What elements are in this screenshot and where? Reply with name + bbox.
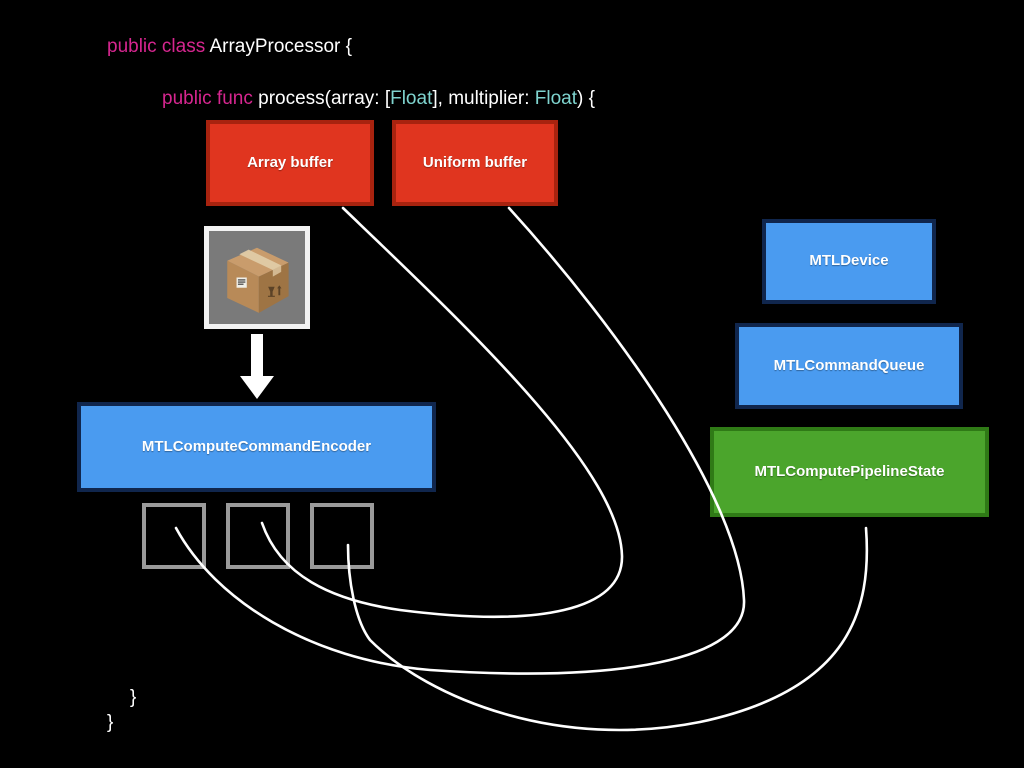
node-uniform-buffer-label: Uniform buffer [423,155,527,172]
node-array-buffer[interactable]: Array buffer [206,120,374,206]
encoder-slot-1[interactable] [142,503,206,569]
node-mtl-command-queue[interactable]: MTLCommandQueue [735,323,963,409]
node-mtl-device-label: MTLDevice [809,253,888,270]
node-mtl-compute-command-encoder-label: MTLComputeCommandEncoder [142,439,371,456]
code-line-close-inner: } [130,687,136,709]
code-line-close-outer: } [107,712,113,734]
encoder-slot-2[interactable] [226,503,290,569]
code-text-brace-open: ) { [577,88,595,109]
node-mtl-compute-pipeline-state[interactable]: MTLComputePipelineState [710,427,989,517]
node-mtl-compute-command-encoder[interactable]: MTLComputeCommandEncoder [77,402,436,492]
connector-pipeline-state-to-slot-3 [348,528,867,730]
code-text-multiplier: ], multiplier: [432,88,534,109]
code-line-class-declaration: public class ArrayProcessor { [107,36,352,58]
code-type-float-scalar: Float [535,88,577,109]
code-text-process-open: process(array: [ [258,88,390,109]
code-text-class-name: ArrayProcessor { [209,36,352,57]
code-keyword-public-func: public func [162,88,258,109]
node-array-buffer-label: Array buffer [247,155,333,172]
diagram-canvas: public class ArrayProcessor { public fun… [0,0,1024,768]
cardboard-box-icon [209,231,305,324]
code-keyword-public-class: public class [107,36,209,57]
node-mtl-device[interactable]: MTLDevice [762,219,936,304]
node-mtl-compute-pipeline-state-label: MTLComputePipelineState [754,464,944,481]
down-arrow-icon [237,334,277,400]
code-type-float-array: Float [390,88,432,109]
package-thumbnail-frame [204,226,310,329]
node-mtl-command-queue-label: MTLCommandQueue [774,358,925,375]
code-line-func-declaration: public func process(array: [Float], mult… [162,88,595,110]
encoder-slot-3[interactable] [310,503,374,569]
node-uniform-buffer[interactable]: Uniform buffer [392,120,558,206]
